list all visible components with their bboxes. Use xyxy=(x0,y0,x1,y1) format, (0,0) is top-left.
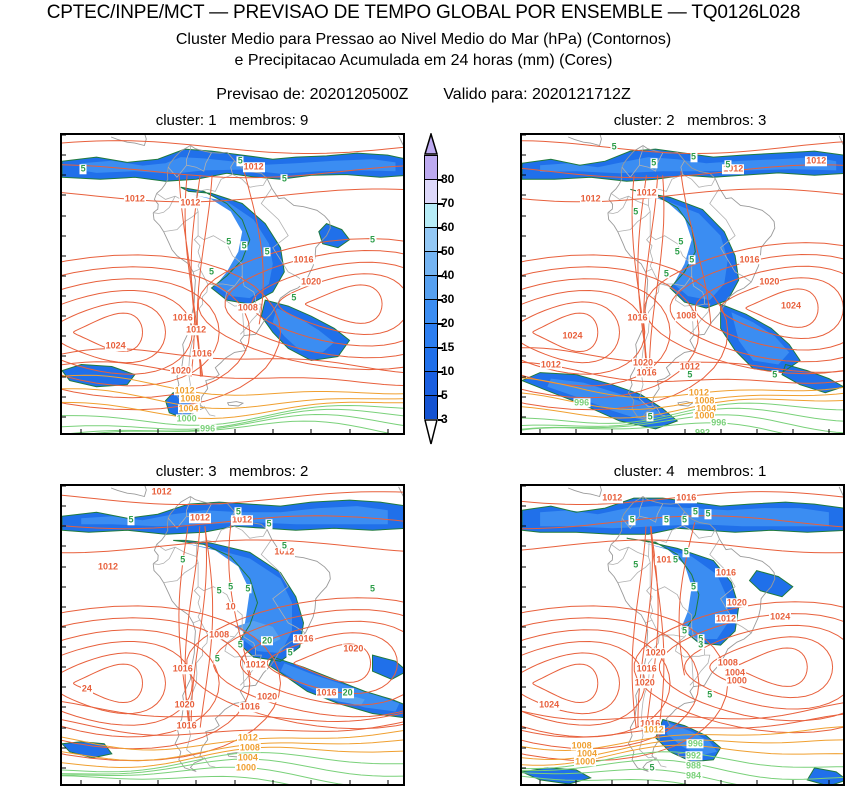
y-axis-tick xyxy=(522,356,526,357)
y-axis-tick xyxy=(522,687,526,688)
precip-contour-label: 5 xyxy=(127,516,134,525)
pressure-contour-label: 1000 xyxy=(235,763,257,772)
pressure-contour-label: 1024 xyxy=(105,342,127,351)
precip-contour-label: 5 xyxy=(237,156,244,165)
x-axis-tick xyxy=(756,780,757,784)
colorbar-segment-15 xyxy=(424,323,438,347)
y-axis-tick xyxy=(62,336,66,337)
pressure-contour-label: 1008 xyxy=(239,743,261,752)
y-axis-tick xyxy=(62,195,66,196)
x-axis-tick xyxy=(196,429,197,433)
pressure-contour-label: 1016 xyxy=(239,703,261,712)
pressure-isobar xyxy=(522,189,843,202)
colorbar-tick-label: 30 xyxy=(441,292,454,306)
precip-contour-label: 5 xyxy=(225,237,232,246)
pressure-contour-label: 1016 xyxy=(315,689,337,698)
x-axis-tick xyxy=(234,780,235,784)
colorbar-under-cap xyxy=(424,419,438,445)
panel-title-cluster-2: cluster: 2 membros: 3 xyxy=(530,112,847,129)
map-panel-cluster-1[interactable]: 1012101210121016102010161012102410161008… xyxy=(60,133,405,435)
precip-contour-label: 5 xyxy=(690,152,697,161)
y-axis-tick xyxy=(62,647,66,648)
colorbar-tick xyxy=(438,347,443,349)
y-axis-tick xyxy=(522,546,526,547)
coastline xyxy=(522,486,601,497)
pressure-contour-label: 1020 xyxy=(758,277,780,286)
y-axis-tick xyxy=(522,376,526,377)
x-axis-tick xyxy=(234,429,235,433)
pressure-contour-label: 1008 xyxy=(237,303,259,312)
x-axis-tick xyxy=(119,429,120,433)
x-axis-tick xyxy=(792,780,793,784)
cluster-label: cluster: xyxy=(156,463,204,480)
colorbar-segment-10 xyxy=(424,347,438,371)
colorbar-tick-label: 50 xyxy=(441,244,454,258)
pressure-contour-label: 10 xyxy=(225,602,237,611)
y-axis-tick xyxy=(522,215,526,216)
precip-contour-label: 5 xyxy=(629,516,636,525)
pressure-contour-label: 992 xyxy=(685,751,702,760)
y-axis-tick xyxy=(522,506,526,507)
precip-contour-label: 5 xyxy=(369,584,376,593)
pressure-contour-label: 1016 xyxy=(176,721,198,730)
y-axis-tick xyxy=(62,416,66,417)
pressure-contour-label: 1016 xyxy=(715,568,737,577)
precip-contour-label: 5 xyxy=(241,241,248,250)
pressure-contour-label: 1000 xyxy=(726,677,748,686)
pressure-contour-label: 24 xyxy=(81,685,93,694)
cluster-number: 2 xyxy=(666,112,674,129)
pressure-isobar xyxy=(522,642,645,726)
pressure-contour-label: 996 xyxy=(687,739,704,748)
x-axis-tick xyxy=(576,429,577,433)
colorbar-segment-60 xyxy=(424,203,438,227)
precip-contour-label: 5 xyxy=(632,207,639,216)
pressure-contour-label: 1016 xyxy=(191,350,213,359)
pressure-contour-label: 1012 xyxy=(237,733,259,742)
pressure-isobar xyxy=(62,776,403,784)
pressure-contour-label: 1020 xyxy=(170,366,192,375)
x-axis-tick xyxy=(272,780,273,784)
pressure-contour-label: 1012 xyxy=(636,189,658,198)
country-border xyxy=(656,757,667,767)
forecast-from-value: 2020120500Z xyxy=(310,86,409,103)
panel-title-cluster-3: cluster: 3 membros: 2 xyxy=(72,463,392,480)
y-axis-tick xyxy=(522,135,526,136)
page-title: CPTEC/INPE/MCT — PREVISAO DE TEMPO GLOBA… xyxy=(0,2,847,24)
y-axis-tick xyxy=(62,275,66,276)
precip-contour-label: 5 xyxy=(216,586,223,595)
members-label: membros: xyxy=(687,112,754,129)
pressure-contour-label: 1000 xyxy=(176,414,198,423)
pressure-contour-label: 1008 xyxy=(179,394,201,403)
colorbar-segment-50 xyxy=(424,227,438,251)
x-axis-tick xyxy=(756,429,757,433)
x-axis-tick xyxy=(792,429,793,433)
coastline xyxy=(62,486,146,497)
y-axis-tick xyxy=(62,566,66,567)
y-axis-tick xyxy=(62,316,66,317)
subtitle-line-2: e Precipitacao Acumulada em 24 horas (mm… xyxy=(0,52,847,70)
pressure-contour-label: 1020 xyxy=(645,648,667,657)
precip-contour-label: 5 xyxy=(244,584,251,593)
x-axis-tick xyxy=(612,780,613,784)
pressure-contour-label: 1024 xyxy=(538,701,560,710)
y-axis-tick xyxy=(522,275,526,276)
y-axis-tick xyxy=(62,606,66,607)
precip-contour-label: 5 xyxy=(663,516,670,525)
pressure-isobar xyxy=(62,189,403,202)
y-axis-tick xyxy=(522,767,526,768)
pressure-contour-label: 1020 xyxy=(634,679,656,688)
y-axis-tick xyxy=(522,296,526,297)
pressure-contour-label: 1012 xyxy=(601,493,623,502)
pressure-contour-label: 1008 xyxy=(208,630,230,639)
precip-contour-label: 5 xyxy=(677,237,684,246)
precip-contour-label: 5 xyxy=(771,370,778,379)
pressure-contour-label: 1012 xyxy=(805,156,827,165)
y-axis-tick xyxy=(522,647,526,648)
y-axis-tick xyxy=(62,687,66,688)
x-axis-tick xyxy=(387,429,388,433)
y-axis-tick xyxy=(522,486,526,487)
pressure-contour-label: 1012 xyxy=(243,162,265,171)
x-axis-tick xyxy=(720,780,721,784)
pressure-contour-label: 1024 xyxy=(769,612,791,621)
x-axis-tick xyxy=(828,780,829,784)
y-axis-tick xyxy=(522,175,526,176)
y-axis-tick xyxy=(62,486,66,487)
forecast-from-label: Previsao de: xyxy=(216,86,305,103)
cluster-number: 3 xyxy=(208,463,216,480)
pressure-isobar xyxy=(62,747,403,767)
precip-contour-label: 5 xyxy=(650,158,657,167)
x-axis-tick xyxy=(540,780,541,784)
pressure-contour-label: 1012 xyxy=(231,516,253,525)
y-axis-tick xyxy=(522,396,526,397)
y-axis-tick xyxy=(62,626,66,627)
pressure-isobar xyxy=(62,302,166,363)
x-axis-tick xyxy=(311,780,312,784)
y-axis-tick xyxy=(62,135,66,136)
map-panel-cluster-2[interactable]: 1012101210121012101610161024101210201016… xyxy=(520,133,845,435)
pressure-isobar xyxy=(62,141,403,154)
precip-contour-label: 5 xyxy=(208,267,215,276)
precip-contour-label: 5 xyxy=(214,654,221,663)
y-axis-tick xyxy=(62,175,66,176)
y-axis-tick xyxy=(522,235,526,236)
y-axis-tick xyxy=(62,667,66,668)
cluster-label: cluster: xyxy=(614,463,662,480)
x-axis-tick xyxy=(81,780,82,784)
colorbar-tick xyxy=(438,419,443,421)
precip-contour-label: 5 xyxy=(704,509,711,518)
pressure-contour-label: 1012 xyxy=(540,360,562,369)
x-axis-tick xyxy=(157,780,158,784)
pressure-contour-label: 1016 xyxy=(172,664,194,673)
y-axis-tick xyxy=(62,526,66,527)
colorbar-tick-label: 80 xyxy=(441,172,454,186)
colorbar-tick-label: 10 xyxy=(441,364,454,378)
y-axis-tick xyxy=(522,526,526,527)
colorbar-segment-80 xyxy=(424,155,438,179)
colorbar-tick xyxy=(438,371,443,373)
y-axis-tick xyxy=(62,396,66,397)
precip-contour-label: 5 xyxy=(663,269,670,278)
y-axis-tick xyxy=(62,376,66,377)
pressure-contour-label: 1008 xyxy=(717,658,739,667)
pressure-contour-label: 1004 xyxy=(177,404,199,413)
pressure-contour-label: 1016 xyxy=(627,313,649,322)
y-axis-tick xyxy=(522,606,526,607)
map-canvas xyxy=(62,135,403,433)
precip-contour-label: 5 xyxy=(706,691,713,700)
map-canvas xyxy=(62,486,403,784)
precip-contour-label: 5 xyxy=(80,165,87,174)
pressure-contour-label: 1012 xyxy=(715,614,737,623)
pressure-contour-label: 1012 xyxy=(189,513,211,522)
colorbar-tick xyxy=(438,275,443,277)
pressure-isobar xyxy=(62,753,403,772)
members-label: membros: xyxy=(687,463,754,480)
pressure-isobar xyxy=(62,291,192,375)
x-axis-tick xyxy=(648,780,649,784)
members-label: membros: xyxy=(229,463,296,480)
map-panel-cluster-4[interactable]: 1012101210201016102010241016101210081004… xyxy=(520,484,845,786)
cluster-number: 4 xyxy=(666,463,674,480)
pressure-contour-label: 1004 xyxy=(237,753,259,762)
panel-title-cluster-1: cluster: 1 membros: 9 xyxy=(72,112,392,129)
members-count: 1 xyxy=(758,463,766,480)
pressure-contour-label: 1012 xyxy=(580,195,602,204)
colorbar-tick-label: 20 xyxy=(441,316,454,330)
precip-contour-label: 5 xyxy=(290,293,297,302)
y-axis-tick xyxy=(522,727,526,728)
x-axis-tick xyxy=(196,780,197,784)
colorbar-segment-40 xyxy=(424,251,438,275)
y-axis-tick xyxy=(522,707,526,708)
colorbar-tick-label: 40 xyxy=(441,268,454,282)
x-axis-tick xyxy=(272,429,273,433)
y-axis-tick xyxy=(522,336,526,337)
y-axis-tick xyxy=(62,506,66,507)
y-axis-tick xyxy=(522,416,526,417)
colorbar-segment-20 xyxy=(424,299,438,323)
precip-contour-label: 5 xyxy=(237,640,244,649)
x-axis-tick xyxy=(81,429,82,433)
precip-contour-label: 5 xyxy=(692,507,699,516)
x-axis-tick xyxy=(720,429,721,433)
precip-contour-label: 5 xyxy=(686,370,693,379)
map-clip: 1012101210121010162410201016101210121008… xyxy=(62,486,403,784)
valid-for-label: Valido para: xyxy=(443,86,527,103)
coastline xyxy=(522,135,601,146)
precip-contour-label: 5 xyxy=(281,542,288,551)
map-canvas xyxy=(522,135,843,433)
pressure-contour-label: 996 xyxy=(573,398,590,407)
y-axis-tick xyxy=(522,747,526,748)
y-axis-tick xyxy=(62,155,66,156)
pressure-isobar xyxy=(62,720,403,736)
pressure-contour-label: 1016 xyxy=(636,368,658,377)
map-clip: 1012101210121012101610161024101210201016… xyxy=(522,135,843,433)
x-axis-tick xyxy=(540,429,541,433)
precip-contour-label: 5 xyxy=(227,582,234,591)
y-axis-tick xyxy=(522,586,526,587)
pressure-contour-label: 1016 xyxy=(738,255,760,264)
colorbar-over-cap xyxy=(424,133,438,155)
pressure-isobar xyxy=(306,285,383,324)
precip-contour-label: 5 xyxy=(688,255,695,264)
pressure-contour-label: 1012 xyxy=(124,195,146,204)
x-axis-tick xyxy=(119,780,120,784)
pressure-contour-label: 984 xyxy=(685,771,702,780)
pressure-contour-label: 992 xyxy=(694,428,711,433)
colorbar-under-arrow-icon xyxy=(424,419,438,445)
pressure-contour-label: 1024 xyxy=(562,332,584,341)
forecast-chart-page: CPTEC/INPE/MCT — PREVISAO DE TEMPO GLOBA… xyxy=(0,0,847,803)
colorbar-segment-3 xyxy=(424,395,438,419)
pressure-contour-label: 1020 xyxy=(342,644,364,653)
precip-contour-label: 5 xyxy=(179,556,186,565)
map-clip: 1012101210201016102010241016101210081004… xyxy=(522,486,843,784)
members-count: 2 xyxy=(300,463,308,480)
x-axis-tick xyxy=(684,429,685,433)
pressure-contour-label: 1016 xyxy=(172,313,194,322)
pressure-contour-label: 996 xyxy=(199,424,216,433)
precip-contour-label: 5 xyxy=(281,175,288,184)
y-axis-tick xyxy=(62,767,66,768)
run-valid-line: Previsao de: 2020120500Z Valido para: 20… xyxy=(0,86,847,104)
colorbar-tick-label: 70 xyxy=(441,196,454,210)
colorbar-segment-70 xyxy=(424,179,438,203)
precip-contour-label: 5 xyxy=(674,247,681,256)
y-axis-tick xyxy=(62,586,66,587)
colorbar-over-arrow-icon xyxy=(424,133,438,155)
colorbar-tick xyxy=(438,251,443,253)
precip-contour-label: 5 xyxy=(683,548,690,557)
precip-contour-label: 5 xyxy=(647,412,654,421)
colorbar-tick xyxy=(438,395,443,397)
coastline xyxy=(62,135,146,146)
pressure-contour-label: 996 xyxy=(710,418,727,427)
y-axis-tick xyxy=(62,747,66,748)
precip-contour-label: 5 xyxy=(264,247,271,256)
pressure-contour-label: 1012 xyxy=(179,199,201,208)
pressure-contour-label: 1020 xyxy=(726,598,748,607)
colorbar-tick xyxy=(438,179,443,181)
x-axis-tick xyxy=(157,429,158,433)
pressure-contour-label: 1008 xyxy=(675,311,697,320)
y-axis-tick xyxy=(62,296,66,297)
pressure-contour-label: 1016 xyxy=(636,664,658,673)
island-outline xyxy=(228,402,243,406)
pressure-contour-label: 1012 xyxy=(97,562,119,571)
colorbar-tick xyxy=(438,203,443,205)
precip-contour-label: 5 xyxy=(724,160,731,169)
pressure-isobar xyxy=(522,408,843,426)
valid-for-value: 2020121712Z xyxy=(532,86,631,103)
y-axis-tick xyxy=(522,195,526,196)
colorbar-tick xyxy=(438,299,443,301)
y-axis-tick xyxy=(62,356,66,357)
pressure-contour-label: 1012 xyxy=(643,725,665,734)
members-count: 9 xyxy=(300,112,308,129)
pressure-isobar xyxy=(62,421,403,433)
precip-contour-label: 5 xyxy=(690,582,697,591)
y-axis-tick xyxy=(522,255,526,256)
y-axis-tick xyxy=(522,667,526,668)
precip-contour-label: 3 xyxy=(697,640,704,649)
x-axis-tick xyxy=(349,429,350,433)
subtitle-line-1: Cluster Medio para Pressao ao Nivel Medi… xyxy=(0,31,847,49)
precip-contour-label: 5 xyxy=(648,763,655,772)
colorbar-tick-label: 60 xyxy=(441,220,454,234)
x-axis-tick xyxy=(684,780,685,784)
cluster-label: cluster: xyxy=(614,112,662,129)
pressure-contour-label: 1012 xyxy=(185,326,207,335)
panel-title-cluster-4: cluster: 4 membros: 1 xyxy=(530,463,847,480)
colorbar-segment-30 xyxy=(424,275,438,299)
precip-contour-label: 5 xyxy=(632,560,639,569)
country-border xyxy=(193,563,201,623)
y-axis-tick xyxy=(522,626,526,627)
y-axis-tick xyxy=(522,155,526,156)
pressure-contour-label: 1020 xyxy=(256,693,278,702)
precip-contour-label: 20 xyxy=(261,636,273,645)
x-axis-tick xyxy=(612,429,613,433)
precip-contour-label: 5 xyxy=(369,235,376,244)
precip-contour-label: 5 xyxy=(265,520,272,529)
y-axis-tick xyxy=(62,727,66,728)
precip-contour-label: 5 xyxy=(681,626,688,635)
pressure-isobar xyxy=(650,175,664,376)
precip-contour-label: 5 xyxy=(681,516,688,525)
map-panel-cluster-3[interactable]: 1012101210121010162410201016101210121008… xyxy=(60,484,405,786)
y-axis-tick xyxy=(62,255,66,256)
pressure-isobar xyxy=(522,653,620,714)
pressure-contour-label: 1012 xyxy=(245,660,267,669)
precip-contour-label: 20 xyxy=(342,689,354,698)
colorbar-tick xyxy=(438,227,443,229)
x-axis-tick xyxy=(311,429,312,433)
x-axis-tick xyxy=(349,780,350,784)
pressure-contour-label: 1016 xyxy=(675,493,697,502)
y-axis-tick xyxy=(522,566,526,567)
y-axis-tick xyxy=(62,546,66,547)
pressure-contour-label: 1016 xyxy=(292,634,314,643)
pressure-contour-label: 1020 xyxy=(632,358,654,367)
x-axis-tick xyxy=(828,429,829,433)
cluster-label: cluster: xyxy=(156,112,204,129)
members-label: membros: xyxy=(229,112,296,129)
members-count: 3 xyxy=(758,112,766,129)
precip-contour-label: 5 xyxy=(287,648,294,657)
cluster-number: 1 xyxy=(208,112,216,129)
precip-contour-label: 5 xyxy=(235,507,242,516)
country-border xyxy=(646,212,653,272)
precip-contour-label: 5 xyxy=(672,556,679,565)
y-axis-tick xyxy=(522,316,526,317)
pressure-isobar xyxy=(62,767,403,784)
pressure-contour-label: 1000 xyxy=(574,757,596,766)
y-axis-tick xyxy=(62,707,66,708)
precipitation-colorbar: 80706050403020151053 xyxy=(424,155,438,419)
pressure-isobar xyxy=(522,423,843,433)
pressure-contour-label: 1012 xyxy=(151,487,173,496)
colorbar-tick-label: 15 xyxy=(441,340,454,354)
pressure-isobar xyxy=(533,664,598,702)
